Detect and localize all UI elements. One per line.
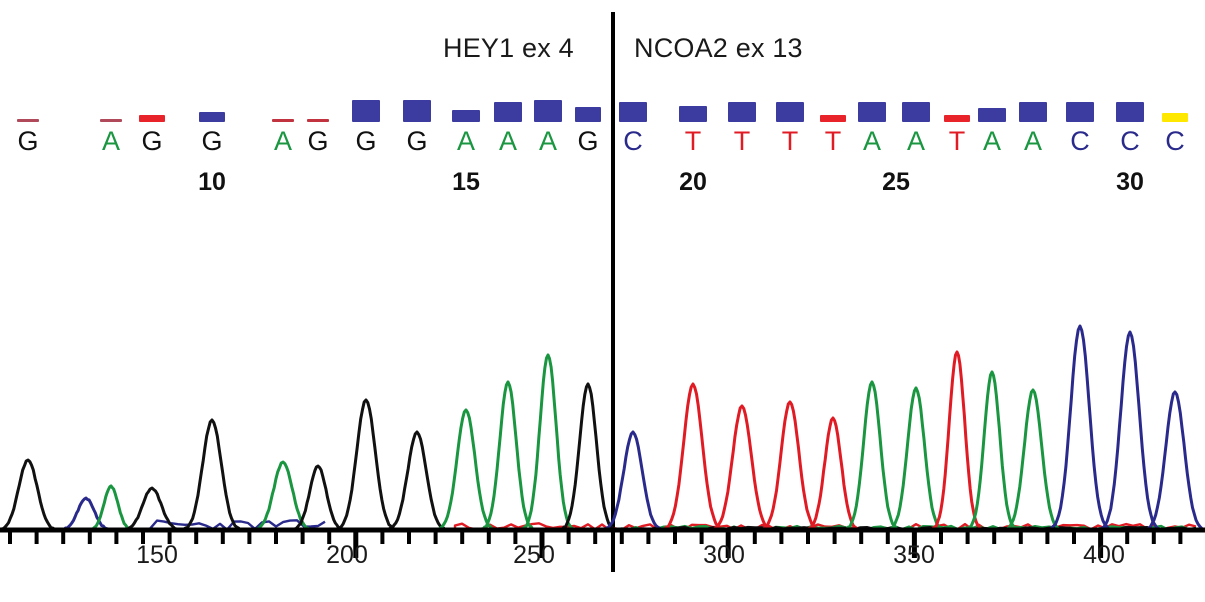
axis-tick-label: 200 — [302, 543, 392, 568]
axis-tick-label: 250 — [489, 543, 579, 568]
axis-tick-label: 300 — [679, 543, 769, 568]
axis-tick-label: 400 — [1059, 543, 1149, 568]
axis-tick-label: 350 — [869, 543, 959, 568]
axis-tick-label: 150 — [112, 543, 202, 568]
chromatogram-figure: HEY1 ex 4 NCOA2 ex 13 GAGGAGGGAAAGCTTTTA… — [0, 0, 1205, 602]
x-axis — [0, 0, 1205, 602]
